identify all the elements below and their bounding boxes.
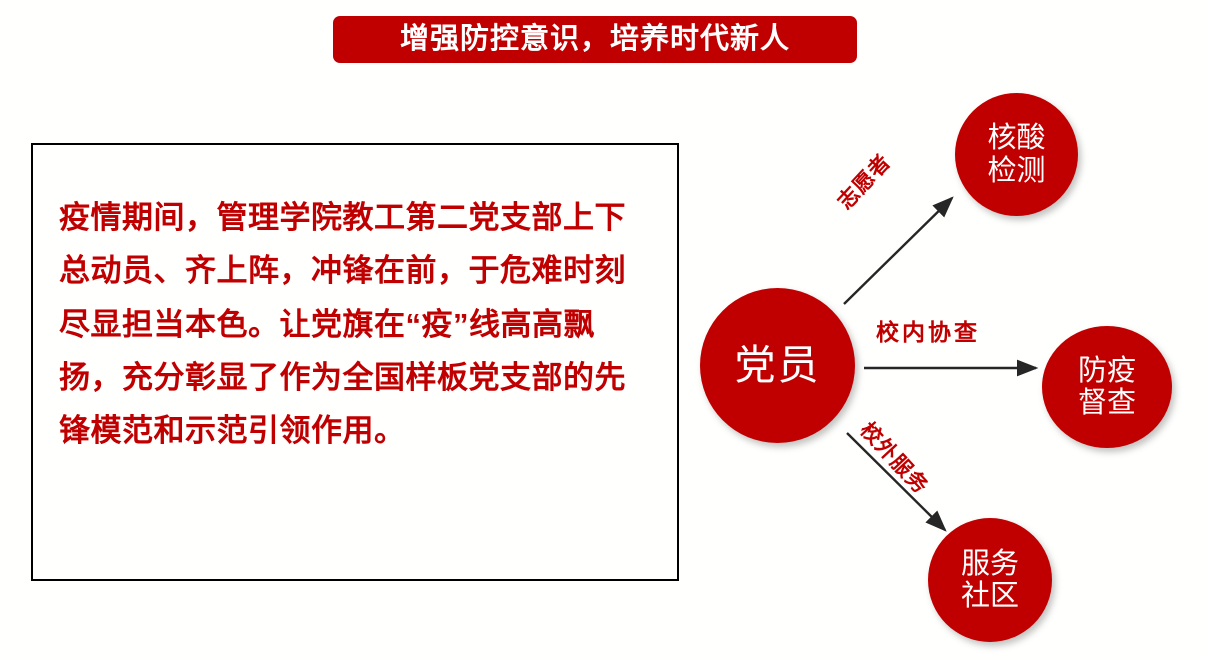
poster-canvas: 增强防控意识，培养时代新人 疫情期间，管理学院教工第二党支部上下总动员、齐上阵，…	[0, 0, 1206, 660]
edge-label-on-campus-assistance: 校内协查	[876, 313, 980, 347]
node-community-service[interactable]: 服务 社区	[928, 518, 1052, 642]
node-community-service-line-1: 服务	[961, 548, 1019, 580]
node-epidemic-inspection-line-2: 督查	[1078, 387, 1136, 419]
title-banner: 增强防控意识，培养时代新人	[333, 16, 857, 63]
node-nucleic-test[interactable]: 核酸 检测	[955, 93, 1078, 216]
arrow-to-nucleic-test	[844, 198, 952, 304]
node-nucleic-test-line-2: 检测	[987, 155, 1045, 187]
node-nucleic-test-line-1: 核酸	[987, 122, 1045, 154]
node-party-member[interactable]: 党员	[700, 288, 855, 443]
node-community-service-line-2: 社区	[961, 580, 1019, 612]
description-box: 疫情期间，管理学院教工第二党支部上下总动员、齐上阵，冲锋在前，于危难时刻尽显担当…	[31, 143, 679, 581]
page-title: 增强防控意识，培养时代新人	[400, 25, 790, 54]
description-text: 疫情期间，管理学院教工第二党支部上下总动员、齐上阵，冲锋在前，于危难时刻尽显担当…	[59, 191, 651, 458]
relationship-diagram: 党员 核酸 检测 防疫 督查 服务 社区 志愿者 校内协查 校外服务	[680, 70, 1206, 660]
edge-label-volunteer: 志愿者	[830, 147, 897, 216]
node-party-member-line-1: 党员	[735, 343, 821, 389]
node-epidemic-inspection[interactable]: 防疫 督查	[1042, 326, 1172, 448]
edge-label-off-campus-service: 校外服务	[854, 415, 936, 500]
node-epidemic-inspection-line-1: 防疫	[1078, 355, 1136, 387]
